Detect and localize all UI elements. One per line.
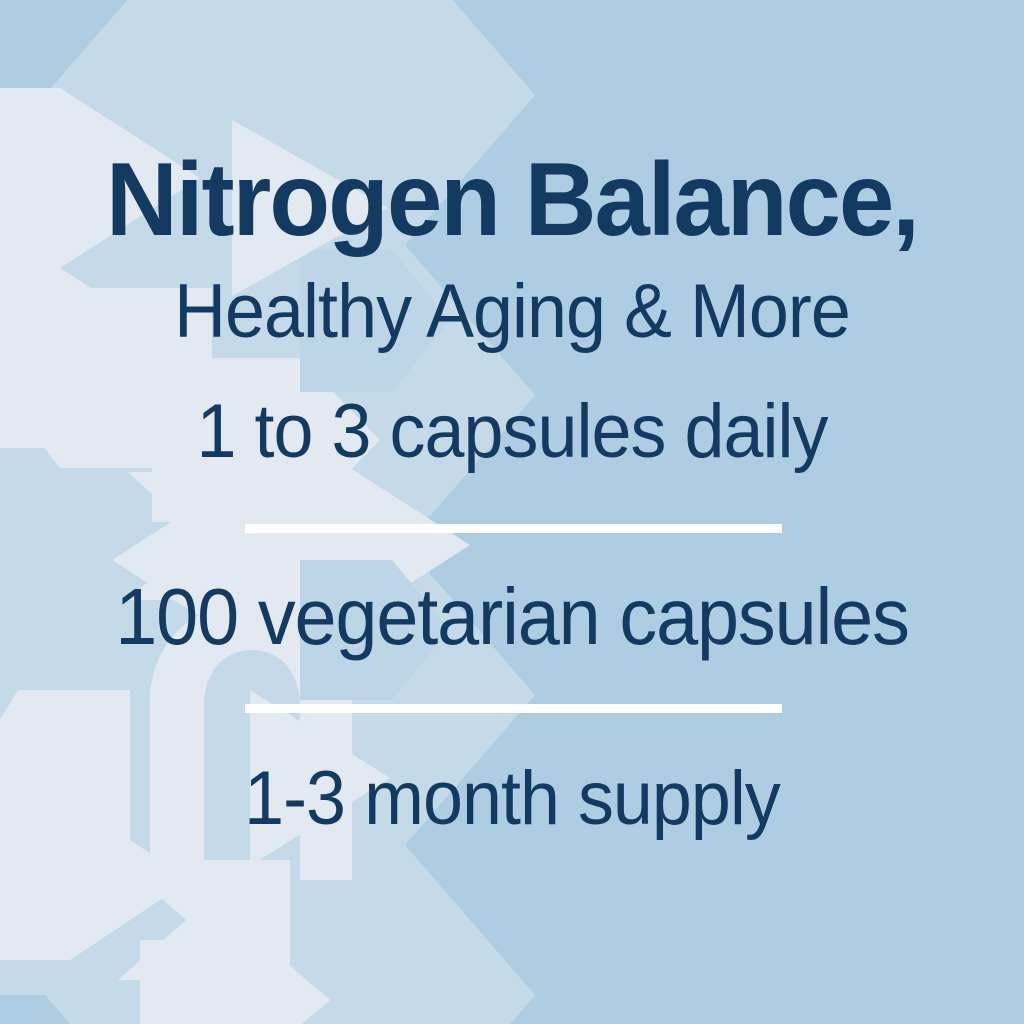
text-stack: Nitrogen Balance, Healthy Aging & More 1… xyxy=(0,0,1024,1024)
capsule-count-text: 100 vegetarian capsules xyxy=(28,577,996,657)
product-info-card: Nitrogen Balance, Healthy Aging & More 1… xyxy=(0,0,1024,1024)
supply-duration-text: 1-3 month supply xyxy=(28,761,996,837)
divider-line-bottom xyxy=(245,704,782,713)
page-title: Nitrogen Balance, xyxy=(23,148,1001,252)
divider-line-top xyxy=(245,524,782,533)
page-subtitle: Healthy Aging & More xyxy=(28,274,996,350)
dosage-text: 1 to 3 capsules daily xyxy=(28,394,996,470)
